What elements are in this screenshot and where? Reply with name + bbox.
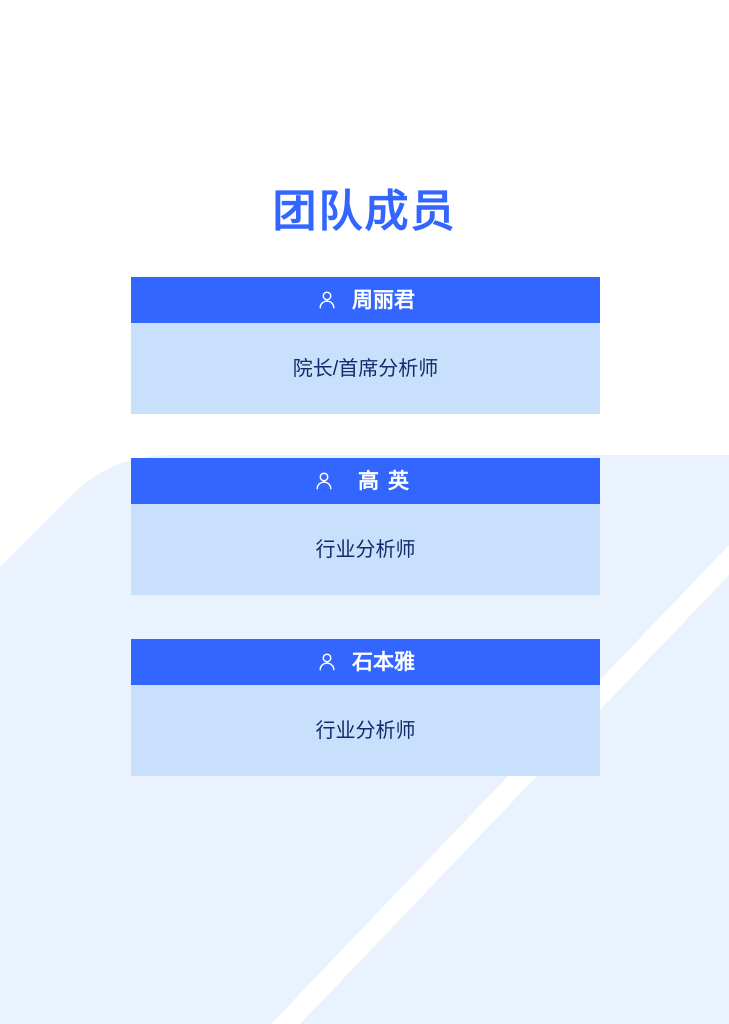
member-card-header: 周丽君 — [131, 277, 600, 323]
person-icon — [313, 470, 335, 492]
team-members-page: 团队成员 周丽君 院长/首席分析师 — [0, 0, 729, 1024]
member-card[interactable]: 高英 行业分析师 — [131, 458, 600, 595]
member-card-header: 高英 — [131, 458, 600, 504]
member-card[interactable]: 石本雅 行业分析师 — [131, 639, 600, 776]
member-card[interactable]: 周丽君 院长/首席分析师 — [131, 277, 600, 414]
member-card-body: 行业分析师 — [131, 504, 600, 595]
member-card-body: 行业分析师 — [131, 685, 600, 776]
member-card-header: 石本雅 — [131, 639, 600, 685]
member-name: 高英 — [349, 471, 418, 492]
member-role: 院长/首席分析师 — [293, 359, 439, 379]
member-role: 行业分析师 — [316, 540, 416, 560]
member-card-body: 院长/首席分析师 — [131, 323, 600, 414]
page-title: 团队成员 — [0, 186, 729, 239]
person-icon — [316, 289, 338, 311]
person-icon — [316, 651, 338, 673]
member-name: 石本雅 — [352, 652, 415, 673]
member-name: 周丽君 — [352, 290, 415, 311]
member-role: 行业分析师 — [316, 721, 416, 741]
member-card-list: 周丽君 院长/首席分析师 高英 行业分析师 — [131, 277, 600, 776]
